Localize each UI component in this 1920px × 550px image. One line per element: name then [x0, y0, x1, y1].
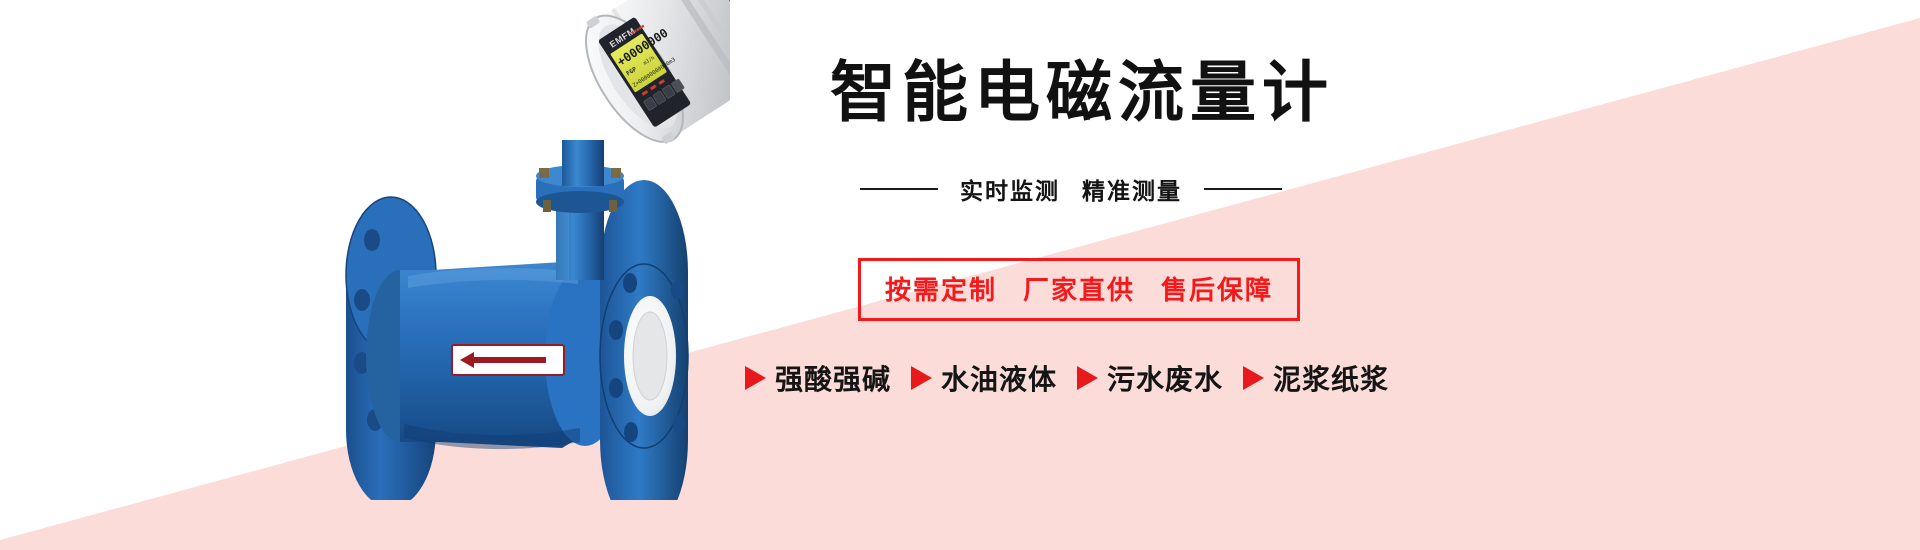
subtitle-part-1: 实时监测 [960, 178, 1060, 204]
triangle-right-icon [745, 366, 766, 390]
feature-label: 泥浆纸浆 [1273, 358, 1389, 398]
feature-item: 水油液体 [911, 358, 1057, 398]
triangle-right-icon [911, 366, 932, 390]
feature-label: 水油液体 [941, 358, 1057, 398]
triangle-right-icon [1077, 366, 1098, 390]
highlight-box: 按需定制厂家直供售后保障 [858, 258, 1300, 321]
highlight-part-2: 厂家直供 [1023, 275, 1135, 305]
triangle-right-icon [1243, 366, 1264, 390]
feature-list: 强酸强碱 水油液体 污水废水 泥浆纸浆 [745, 358, 1389, 398]
feature-item: 污水废水 [1077, 358, 1223, 398]
subtitle-left-rule [860, 188, 938, 190]
highlight-text: 按需定制厂家直供售后保障 [885, 275, 1273, 305]
highlight-part-1: 按需定制 [885, 275, 997, 305]
subtitle-part-2: 精准测量 [1082, 178, 1182, 204]
highlight-part-3: 售后保障 [1161, 275, 1273, 305]
subtitle-text: 实时监测精准测量 [960, 172, 1182, 206]
feature-label: 污水废水 [1107, 358, 1223, 398]
subtitle-row: 实时监测精准测量 [860, 172, 1282, 206]
feature-item: 强酸强碱 [745, 358, 891, 398]
feature-item: 泥浆纸浆 [1243, 358, 1389, 398]
feature-label: 强酸强碱 [775, 358, 891, 398]
page-title: 智能电磁流量计 [830, 55, 1334, 129]
subtitle-right-rule [1204, 188, 1282, 190]
product-banner: EMFM ■■■■■ +0000000 FGP m3/h Z+000000000… [0, 0, 1920, 550]
